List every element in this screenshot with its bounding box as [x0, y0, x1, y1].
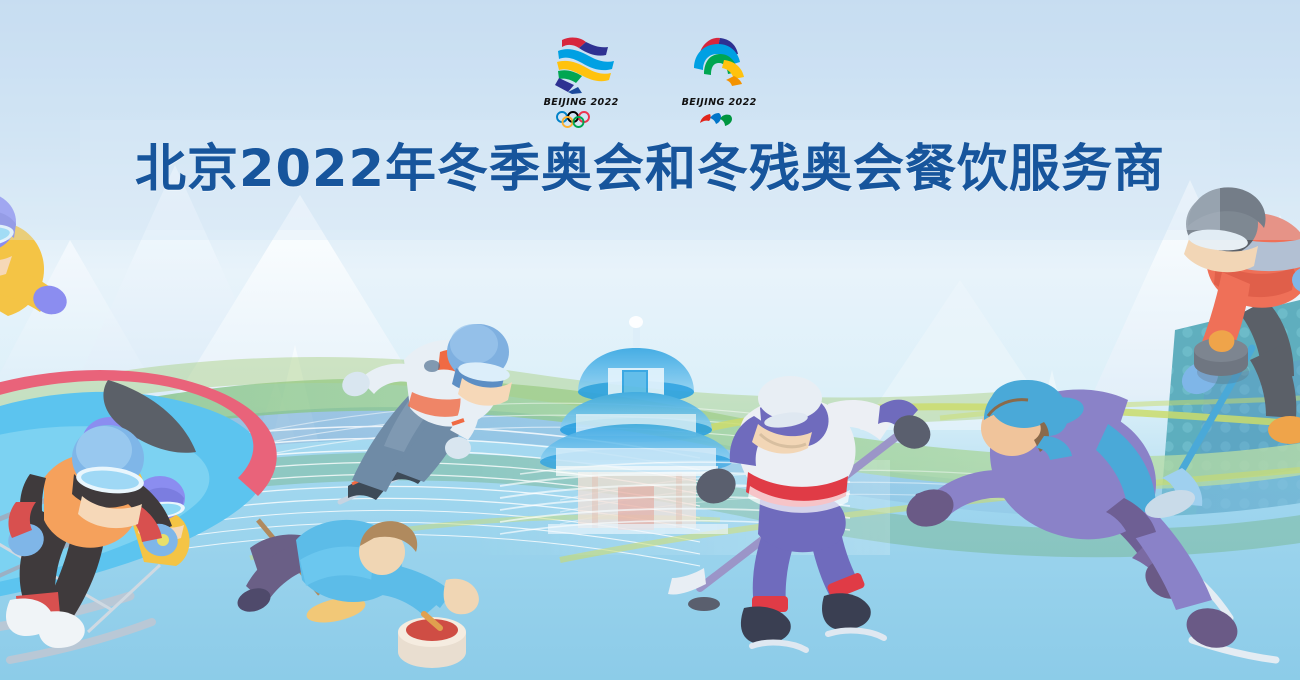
paralympic-agitos-icon — [696, 112, 742, 128]
paralympic-emblem-wordmark: BEIJING 2022 — [681, 97, 756, 108]
beijing-2022-banner: BEIJING 2022 — [0, 0, 1300, 680]
olympic-emblem-mark — [542, 32, 620, 94]
curling-stone — [398, 614, 466, 668]
banner-title: 北京2022年冬季奥会和冬残奥会餐饮服务商 — [135, 141, 1165, 200]
beijing-2022-olympic-emblem: BEIJING 2022 — [533, 32, 629, 129]
paralympic-emblem-mark — [680, 32, 758, 94]
olympic-emblem-wordmark: BEIJING 2022 — [543, 97, 618, 108]
beijing-2022-paralympic-emblem: BEIJING 2022 — [671, 32, 767, 128]
emblem-row: BEIJING 2022 — [0, 32, 1300, 129]
banner-title-container: 北京2022年冬季奥会和冬残奥会餐饮服务商 — [0, 141, 1300, 200]
olympic-rings-icon — [553, 111, 609, 129]
